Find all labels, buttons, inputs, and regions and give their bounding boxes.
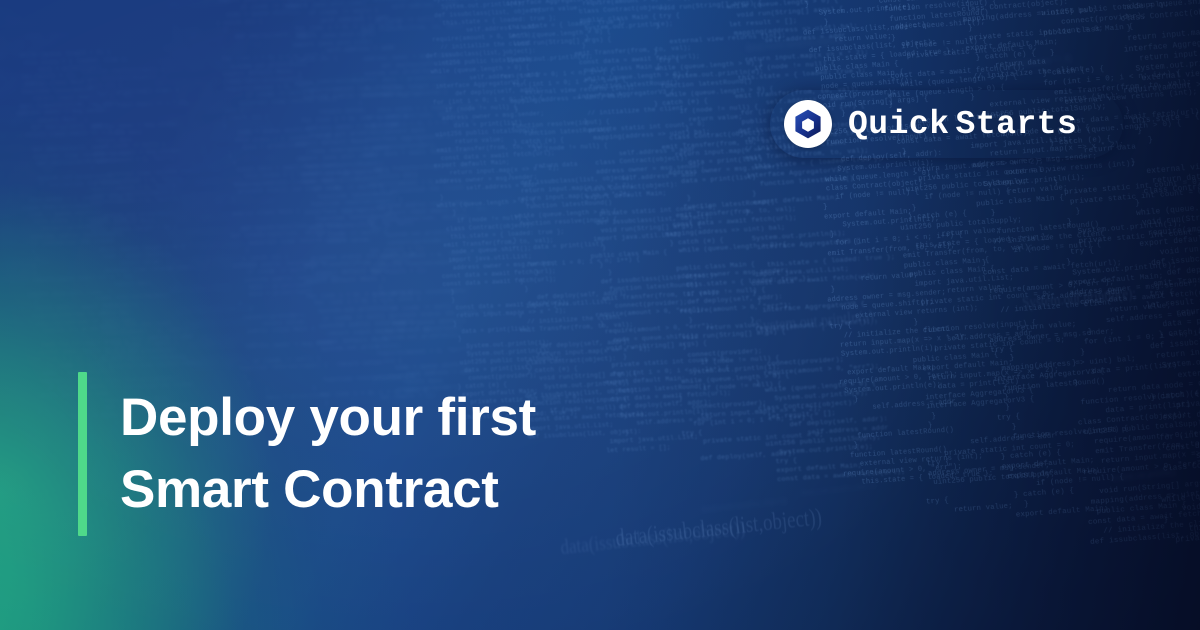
- headline-accent-bar: [78, 372, 87, 536]
- page-title-line-1: Deploy your first: [120, 382, 760, 454]
- page-title-line-2: Smart Contract: [120, 454, 760, 526]
- quickstarts-badge[interactable]: QuickStarts: [770, 90, 1123, 158]
- page-title: Deploy your first Smart Contract: [120, 382, 760, 526]
- badge-text-starts: Starts: [956, 106, 1078, 143]
- chainlink-hexagon-icon: [784, 100, 832, 148]
- quickstarts-badge-label: QuickStarts: [848, 106, 1077, 143]
- badge-text-quick: Quick: [848, 106, 950, 143]
- quickstarts-banner: } catch (e) { return value; System.out.p…: [0, 0, 1200, 630]
